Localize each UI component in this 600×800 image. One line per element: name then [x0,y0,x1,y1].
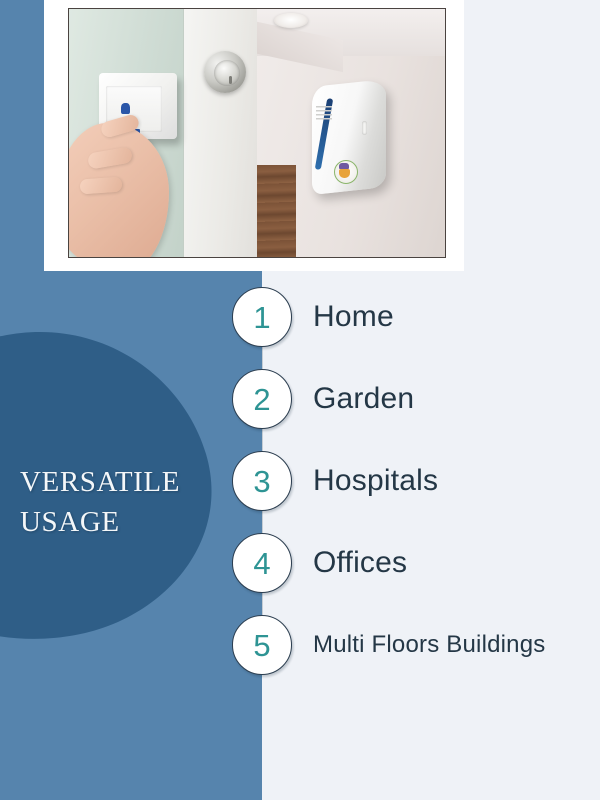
list-item-number: 5 [253,630,270,661]
list-item[interactable]: 1 Home [232,287,394,347]
page-title-line-1: VERSATILE [20,462,220,502]
list-item-number-badge[interactable]: 5 [232,615,292,675]
list-item-number-badge[interactable]: 4 [232,533,292,593]
list-item[interactable]: 4 Offices [232,533,407,593]
list-item-label: Home [313,300,394,334]
page-title: VERSATILE USAGE [20,462,220,542]
list-item-number-badge[interactable]: 1 [232,287,292,347]
list-item[interactable]: 3 Hospitals [232,451,438,511]
list-item-number: 2 [253,384,270,415]
list-item-number-badge[interactable]: 3 [232,451,292,511]
list-item-label: Offices [313,546,407,580]
page-title-line-2: USAGE [20,502,220,542]
infographic-canvas: VERSATILE USAGE 1 Home 2 Garden 3 Hospit… [0,0,600,800]
list-item-label: Hospitals [313,464,438,498]
list-item-number: 3 [253,466,270,497]
list-item-number: 4 [253,548,270,579]
versatile-usage-list: 1 Home 2 Garden 3 Hospitals 4 Offices 5 [0,0,600,800]
list-item-label: Multi Floors Buildings [313,631,545,659]
list-item-number-badge[interactable]: 2 [232,369,292,429]
list-item[interactable]: 2 Garden [232,369,414,429]
list-item-label: Garden [313,382,414,416]
list-item[interactable]: 5 Multi Floors Buildings [232,615,545,675]
list-item-number: 1 [253,302,270,333]
